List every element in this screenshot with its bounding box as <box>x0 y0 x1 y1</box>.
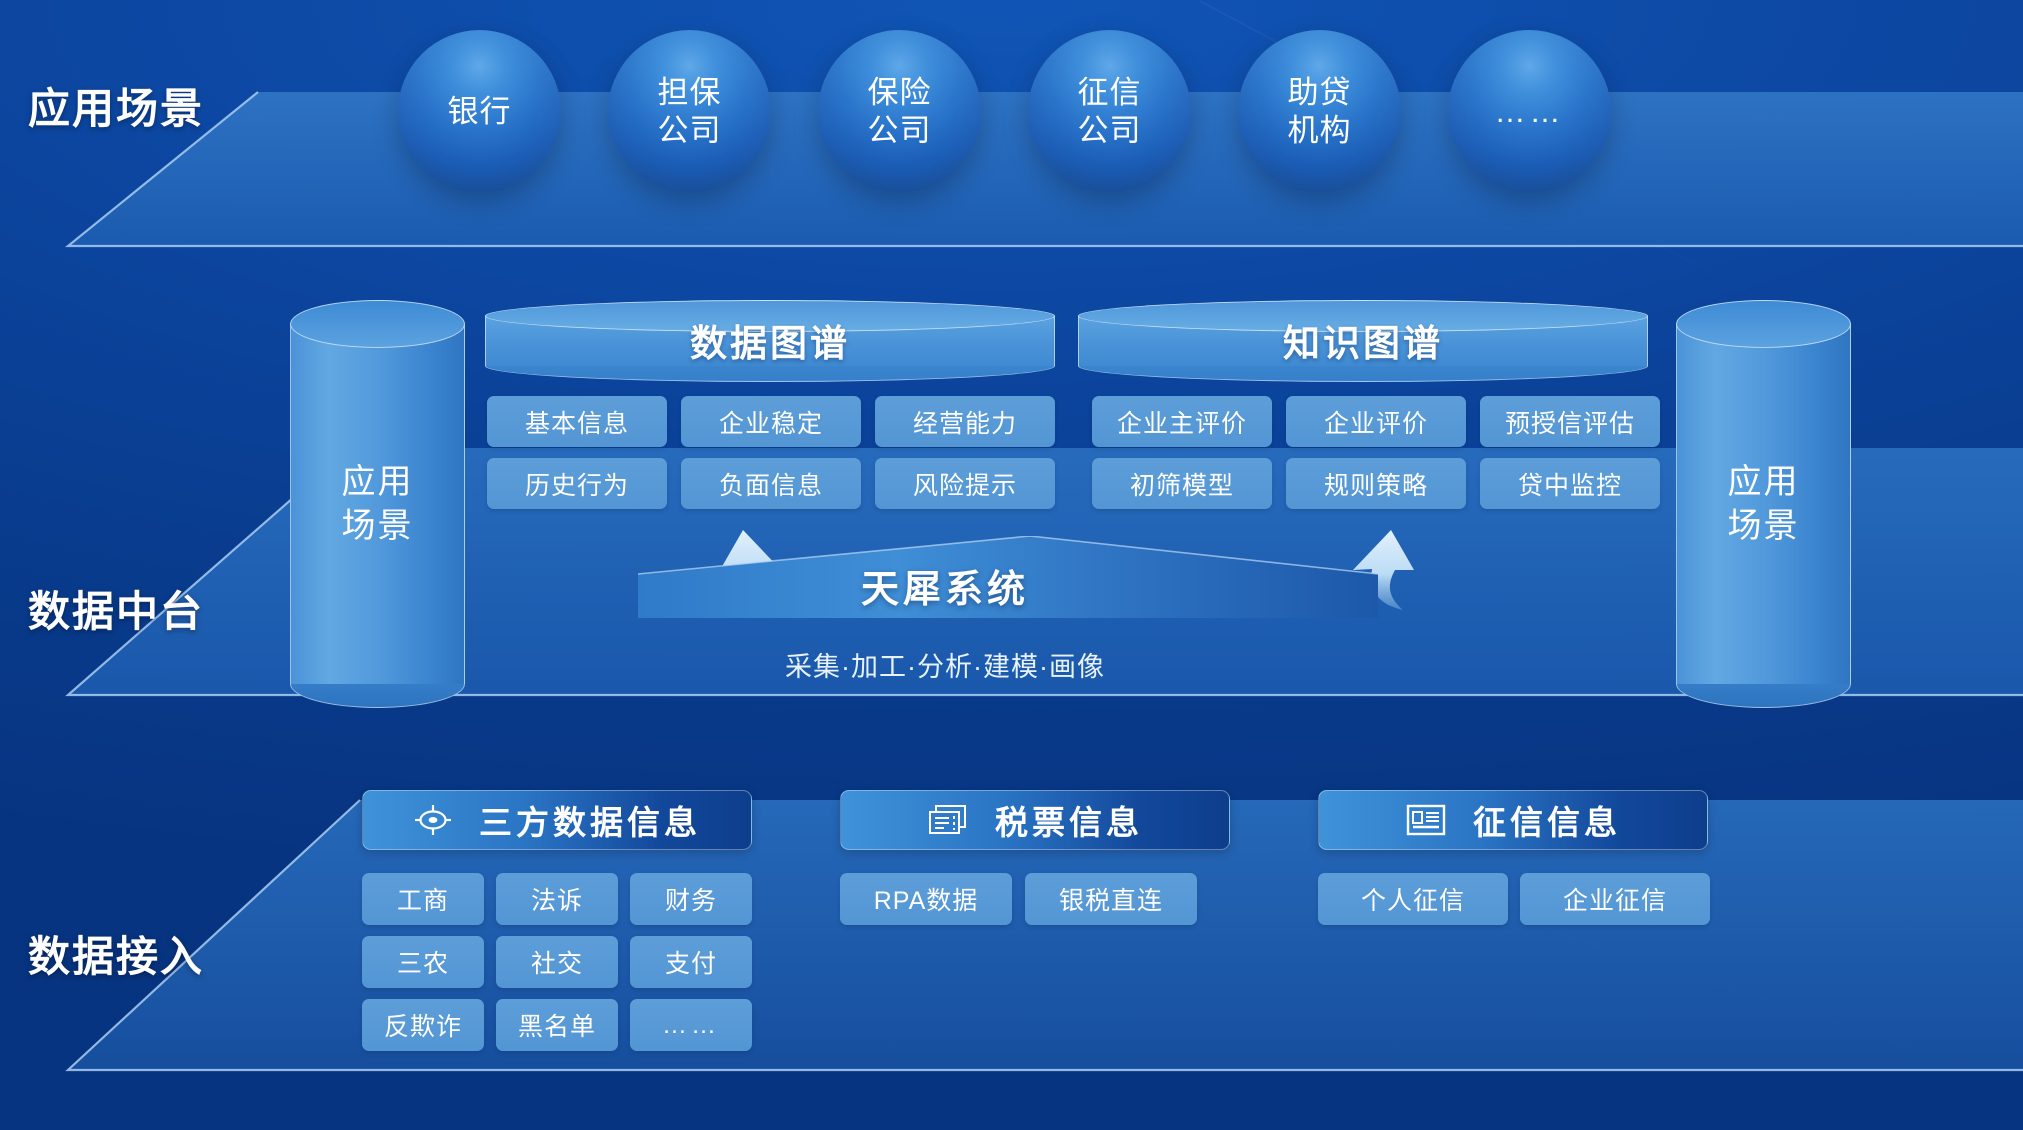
cylinder-application-scenario-left[interactable]: 应用 场景 <box>290 300 465 708</box>
tile-knowledge-graph-5[interactable]: 贷中监控 <box>1480 458 1660 509</box>
data-graph-title: 数据图谱 <box>485 313 1055 367</box>
tile-knowledge-graph-0[interactable]: 企业主评价 <box>1092 396 1272 447</box>
row-label-application: 应用场景 <box>28 75 204 136</box>
tile-third-party-4[interactable]: 社交 <box>496 936 618 988</box>
sphere-label: 保险 公司 <box>868 74 932 150</box>
tile-third-party-0[interactable]: 工商 <box>362 873 484 925</box>
tile-third-party-1[interactable]: 法诉 <box>496 873 618 925</box>
tile-knowledge-graph-3[interactable]: 初筛模型 <box>1092 458 1272 509</box>
sphere-label: 征信 公司 <box>1078 74 1142 150</box>
diagram-canvas: 应用场景 数据中台 数据接入 银行 担保 公司 保险 公司 征信 公司 助贷 机… <box>0 0 2023 1130</box>
group-title: 三方数据信息 <box>479 796 701 844</box>
data-graph-header[interactable]: 数据图谱 <box>485 300 1055 382</box>
cylinder-top-cap <box>290 300 465 348</box>
target-crosshair-icon <box>413 803 453 837</box>
tile-third-party-6[interactable]: 反欺诈 <box>362 999 484 1051</box>
tile-data-graph-5[interactable]: 风险提示 <box>875 458 1055 509</box>
cylinder-label: 应用 场景 <box>1676 460 1851 548</box>
tile-credit-0[interactable]: 个人征信 <box>1318 873 1508 925</box>
sphere-insurance-company[interactable]: 保险 公司 <box>818 30 981 193</box>
tile-data-graph-4[interactable]: 负面信息 <box>681 458 861 509</box>
tile-data-graph-2[interactable]: 经营能力 <box>875 396 1055 447</box>
tianxi-system-subtitle: 采集·加工·分析·建模·画像 <box>785 645 1105 684</box>
cylinder-top-cap <box>1676 300 1851 348</box>
group-header-credit-report-data[interactable]: 征信信息 <box>1318 790 1708 850</box>
platform-application <box>0 70 2023 260</box>
knowledge-graph-header[interactable]: 知识图谱 <box>1078 300 1648 382</box>
tile-data-graph-1[interactable]: 企业稳定 <box>681 396 861 447</box>
sphere-loan-assist-agency[interactable]: 助贷 机构 <box>1238 30 1401 193</box>
sphere-bank[interactable]: 银行 <box>398 30 561 193</box>
id-card-icon <box>1405 803 1447 837</box>
tile-third-party-8[interactable]: …… <box>630 999 752 1051</box>
row-label-middle: 数据中台 <box>28 578 204 639</box>
row-label-bottom: 数据接入 <box>28 923 204 984</box>
tile-knowledge-graph-1[interactable]: 企业评价 <box>1286 396 1466 447</box>
tile-knowledge-graph-2[interactable]: 预授信评估 <box>1480 396 1660 447</box>
cylinder-label: 应用 场景 <box>290 460 465 548</box>
group-header-third-party-data[interactable]: 三方数据信息 <box>362 790 752 850</box>
tile-third-party-2[interactable]: 财务 <box>630 873 752 925</box>
sphere-label: 银行 <box>448 93 512 131</box>
sphere-guarantee-company[interactable]: 担保 公司 <box>608 30 771 193</box>
sphere-label: 担保 公司 <box>658 74 722 150</box>
tianxi-system-title: 天犀系统 <box>861 558 1029 613</box>
tile-knowledge-graph-4[interactable]: 规则策略 <box>1286 458 1466 509</box>
tile-third-party-5[interactable]: 支付 <box>630 936 752 988</box>
tile-third-party-7[interactable]: 黑名单 <box>496 999 618 1051</box>
sphere-label: 助贷 机构 <box>1288 74 1352 150</box>
cylinder-application-scenario-right[interactable]: 应用 场景 <box>1676 300 1851 708</box>
tile-credit-1[interactable]: 企业征信 <box>1520 873 1710 925</box>
group-title: 税票信息 <box>995 796 1143 844</box>
group-header-tax-invoice-data[interactable]: 税票信息 <box>840 790 1230 850</box>
tile-third-party-3[interactable]: 三农 <box>362 936 484 988</box>
sphere-credit-company[interactable]: 征信 公司 <box>1028 30 1191 193</box>
tile-tax-0[interactable]: RPA数据 <box>840 873 1012 925</box>
sphere-label: …… <box>1495 94 1565 130</box>
tile-tax-1[interactable]: 银税直连 <box>1025 873 1197 925</box>
invoice-stack-icon <box>927 803 969 837</box>
tile-data-graph-3[interactable]: 历史行为 <box>487 458 667 509</box>
knowledge-graph-title: 知识图谱 <box>1078 313 1648 367</box>
tile-data-graph-0[interactable]: 基本信息 <box>487 396 667 447</box>
sphere-more[interactable]: …… <box>1448 30 1611 193</box>
group-title: 征信信息 <box>1473 796 1621 844</box>
